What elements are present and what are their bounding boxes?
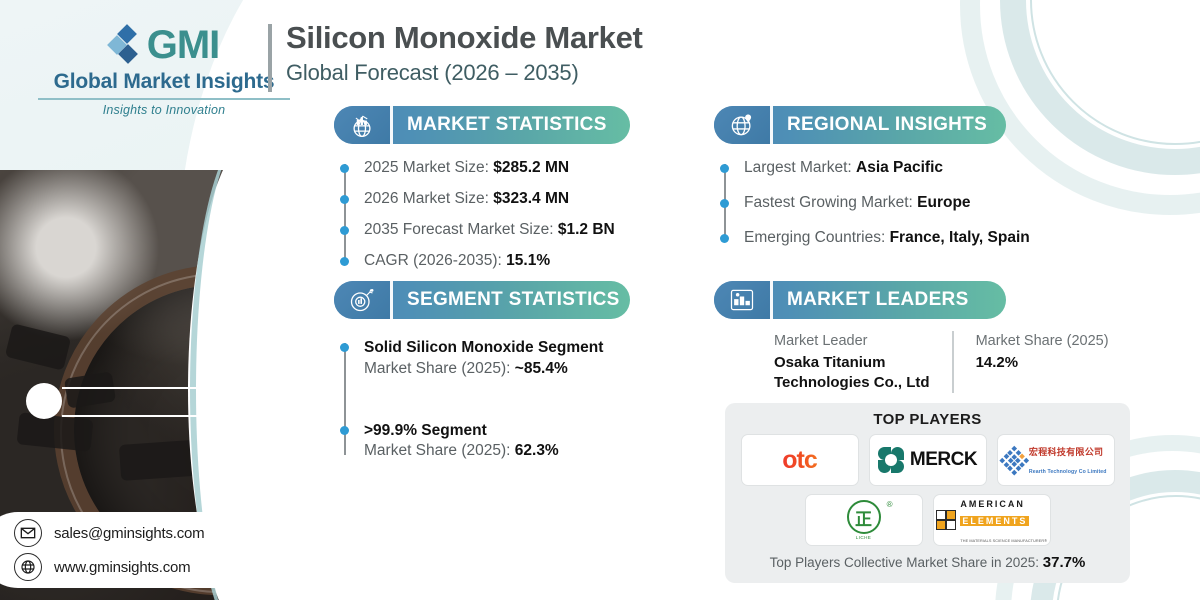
market-leader-share-column: Market Share (2025) 14.2% [952, 331, 1109, 393]
otc-logo-text: otc [782, 446, 817, 475]
section-segment-statistics: SEGMENT STATISTICS Solid Silicon Monoxid… [334, 281, 634, 472]
segment-name: Solid Silicon Monoxide Segment [364, 337, 634, 359]
region-value: Europe [917, 194, 970, 211]
contact-footer: sales@gminsights.com www.gminsights.com [0, 512, 260, 588]
title-block: Silicon Monoxide Market Global Forecast … [268, 20, 643, 86]
photo-chunk [17, 412, 94, 452]
segment-share-label: Market Share (2025): [364, 442, 515, 459]
bullet-dot [340, 343, 349, 352]
callout-line-top [62, 387, 232, 389]
merck-logo-text: MERCK [910, 449, 977, 471]
list-spine [344, 343, 346, 455]
bullet-dot [340, 164, 349, 173]
market-leader-label: Market Leader [774, 331, 930, 353]
infographic-canvas: Si: GMI Global Market Insights Insights … [0, 0, 1200, 600]
section-header-market-statistics: MARKET STATISTICS [334, 106, 634, 144]
rearth-mark-icon [1000, 446, 1029, 475]
stat-value: $285.2 MN [493, 159, 569, 176]
stat-label: CAGR (2026-2035): [364, 252, 506, 269]
podium-icon [714, 281, 770, 319]
list-item: 2026 Market Size: $323.4 MN [364, 189, 634, 210]
list-item: 2025 Market Size: $285.2 MN [364, 158, 634, 179]
market-leader-details: Market Leader Osaka Titanium Technologie… [714, 331, 1024, 393]
market-share-label: Market Share (2025) [976, 331, 1109, 353]
contact-email-row[interactable]: sales@gminsights.com [14, 519, 260, 547]
market-share-value: 14.2% [976, 353, 1109, 373]
american-elements-logo[interactable]: AMERICAN ELEMENTS THE MATERIALS SCIENCE … [933, 494, 1051, 546]
gmi-tagline-part1: Insights to [103, 103, 166, 117]
bullet-dot [720, 234, 729, 243]
callout-line-bottom [62, 415, 232, 417]
segment-name: >99.9% Segment [364, 420, 634, 442]
section-market-leaders: MARKET LEADERS Market Leader Osaka Titan… [714, 281, 1024, 393]
stat-value: $323.4 MN [493, 190, 569, 207]
list-item: Largest Market: Asia Pacific [744, 158, 1014, 179]
globe-icon [14, 553, 42, 581]
market-statistics-list: 2025 Market Size: $285.2 MN 2026 Market … [334, 158, 634, 272]
list-item: Solid Silicon Monoxide Segment Market Sh… [364, 337, 634, 380]
section-market-statistics: MARKET STATISTICS 2025 Market Size: $285… [334, 106, 634, 282]
photo-chunk [5, 323, 71, 371]
donut-chart-icon [334, 281, 390, 319]
stat-label: 2025 Market Size: [364, 159, 493, 176]
list-item: CAGR (2026-2035): 15.1% [364, 251, 634, 272]
green-emblem-glyph: 正 [847, 500, 881, 534]
rearth-logo-text-en: Rearth Technology Co Limited [1029, 469, 1107, 475]
section-title-regional-insights: REGIONAL INSIGHTS [773, 114, 987, 136]
top-players-row-1: otc MERCK 宏程科技有限公司 Rearth Technology Co … [737, 434, 1118, 486]
otc-logo[interactable]: otc [741, 434, 859, 486]
rearth-technology-logo[interactable]: 宏程科技有限公司 Rearth Technology Co Limited [997, 434, 1115, 486]
contact-email-text: sales@gminsights.com [54, 525, 204, 542]
page-title: Silicon Monoxide Market [286, 20, 643, 56]
page-subtitle: Global Forecast (2026 – 2035) [286, 60, 643, 86]
section-title-segment-statistics: SEGMENT STATISTICS [393, 289, 620, 311]
section-header-regional-insights: REGIONAL INSIGHTS [714, 106, 1014, 144]
collective-share-label: Top Players Collective Market Share in 2… [770, 555, 1043, 570]
globe-pin-icon [714, 106, 770, 144]
bullet-dot [340, 426, 349, 435]
top-players-title: TOP PLAYERS [737, 411, 1118, 428]
list-item: 2035 Forecast Market Size: $1.2 BN [364, 220, 634, 241]
gmi-logo-rule [38, 98, 290, 100]
american-elements-line3: THE MATERIALS SCIENCE MANUFACTURER® [960, 539, 1047, 543]
section-title-market-statistics: MARKET STATISTICS [393, 114, 607, 136]
list-item: Fastest Growing Market: Europe [744, 193, 1014, 214]
bullet-dot [340, 195, 349, 204]
region-label: Fastest Growing Market: [744, 194, 917, 211]
region-label: Emerging Countries: [744, 229, 890, 246]
bullet-dot [720, 164, 729, 173]
stat-value: 15.1% [506, 252, 550, 269]
title-accent-bar [268, 24, 272, 92]
bullet-dot [340, 226, 349, 235]
gmi-logo-text: GMI [147, 25, 220, 65]
american-elements-line1: AMERICAN [960, 499, 1025, 509]
bullet-dot [340, 257, 349, 266]
stat-label: 2035 Forecast Market Size: [364, 221, 558, 238]
gmi-tagline-part2: Innovation [166, 103, 226, 117]
market-leader-name-line2: Technologies Co., Ltd [774, 373, 930, 393]
regional-insights-list: Largest Market: Asia Pacific Fastest Gro… [714, 158, 1014, 249]
market-leader-name-line1: Osaka Titanium [774, 353, 930, 373]
market-leader-name-column: Market Leader Osaka Titanium Technologie… [774, 331, 930, 393]
callout-dot [26, 383, 62, 419]
gmi-tagline: Insights to Innovation [14, 103, 314, 117]
segment-share-value: 62.3% [515, 442, 559, 459]
list-item: >99.9% Segment Market Share (2025): 62.3… [364, 420, 634, 463]
top-players-collective-share: Top Players Collective Market Share in 2… [737, 554, 1118, 571]
top-players-row-2: ® 正 LICHE AMERICAN ELEMENTS THE MATERIAL… [737, 494, 1118, 546]
stat-label: 2026 Market Size: [364, 190, 493, 207]
merck-mark-icon [878, 447, 904, 473]
green-emblem-logo[interactable]: ® 正 LICHE [805, 494, 923, 546]
collective-share-value: 37.7% [1043, 554, 1086, 571]
green-emblem-subtext: LICHE [856, 535, 872, 540]
registered-trademark-icon: ® [887, 500, 893, 509]
segment-share-value: ~85.4% [515, 360, 568, 377]
segment-statistics-list: Solid Silicon Monoxide Segment Market Sh… [334, 337, 634, 462]
region-value: Asia Pacific [856, 159, 943, 176]
contact-website-text: www.gminsights.com [54, 559, 190, 576]
section-title-market-leaders: MARKET LEADERS [773, 289, 969, 311]
region-value: France, Italy, Spain [890, 229, 1030, 246]
bullet-dot [720, 199, 729, 208]
section-header-market-leaders: MARKET LEADERS [714, 281, 1024, 319]
region-label: Largest Market: [744, 159, 856, 176]
globe-chart-icon [334, 106, 390, 144]
merck-logo[interactable]: MERCK [869, 434, 987, 486]
list-item: Emerging Countries: France, Italy, Spain [744, 228, 1014, 249]
contact-website-row[interactable]: www.gminsights.com [14, 553, 260, 581]
american-elements-mark-icon [936, 510, 957, 531]
envelope-icon [14, 519, 42, 547]
stat-value: $1.2 BN [558, 221, 615, 238]
section-regional-insights: REGIONAL INSIGHTS Largest Market: Asia P… [714, 106, 1014, 259]
segment-share-label: Market Share (2025): [364, 360, 515, 377]
american-elements-line2: ELEMENTS [960, 516, 1029, 526]
rearth-logo-text-cn: 宏程科技有限公司 [1029, 447, 1103, 457]
callout-label: Si: [236, 373, 284, 418]
gmi-diamonds-icon [109, 27, 143, 63]
section-header-segment-statistics: SEGMENT STATISTICS [334, 281, 634, 319]
list-spine [344, 164, 346, 262]
top-players-panel: TOP PLAYERS otc MERCK 宏程科技有限公司 [725, 403, 1130, 583]
